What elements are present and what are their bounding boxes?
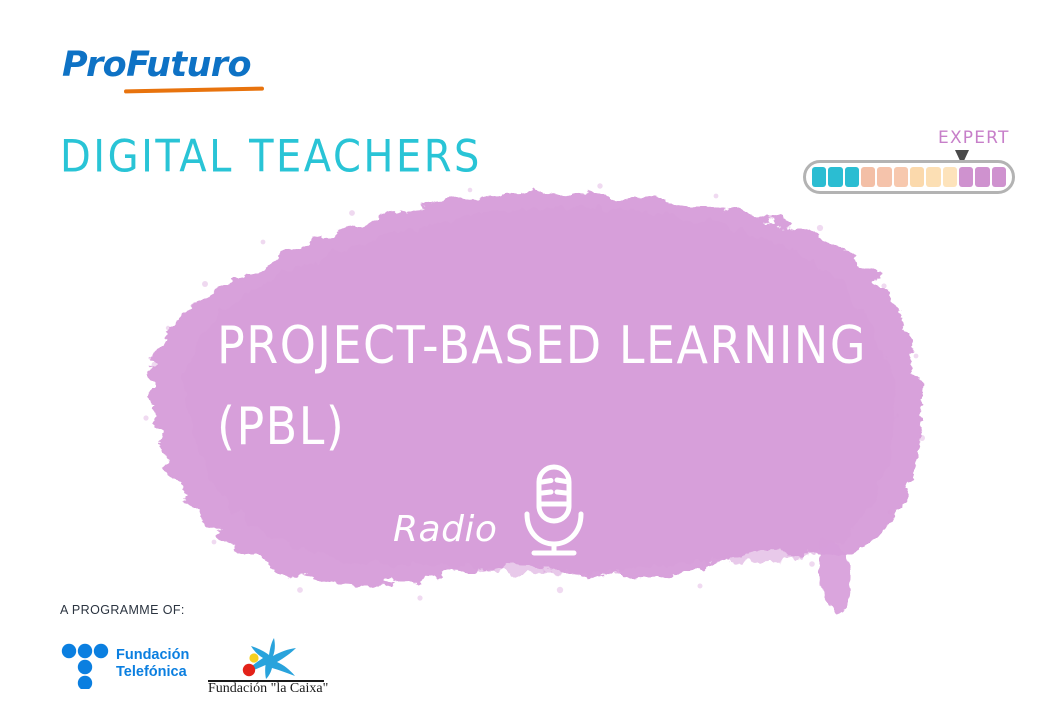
page-title-line-1: PROJECT-BASED LEARNING [217, 305, 917, 386]
brush-drip [820, 540, 851, 614]
lacaixa-yellow-dot [249, 653, 258, 662]
level-meter-segment-12 [992, 167, 1006, 187]
telefonica-dots-icon [60, 643, 110, 689]
lacaixa-star-icon [230, 637, 300, 679]
level-meter[interactable] [803, 160, 1015, 194]
level-meter-segment-6 [894, 167, 908, 187]
slide-canvas: ProFuturo DIGITAL TEACHERS EXPERT PROJEC… [0, 0, 1040, 720]
level-meter-segment-11 [975, 167, 989, 187]
level-meter-segment-3 [845, 167, 859, 187]
programme-credit-label: A PROGRAMME OF: [60, 603, 185, 617]
level-meter-segment-2 [828, 167, 842, 187]
lacaixa-red-dot [243, 664, 255, 676]
level-meter-segment-8 [926, 167, 940, 187]
sponsor-name-telefonica-line-1: Fundación [116, 647, 189, 664]
level-meter-segment-9 [943, 167, 957, 187]
programme-name: DIGITAL TEACHERS [60, 130, 482, 184]
level-meter-segment-10 [959, 167, 973, 187]
sponsor-name-telefonica: Fundación Telefónica [116, 647, 189, 681]
page-title-line-2: (PBL) [217, 386, 917, 467]
format-badge: Radio [393, 462, 589, 558]
microphone-icon [519, 462, 589, 558]
level-meter-track [803, 160, 1015, 194]
profuturo-logo: ProFuturo [62, 44, 292, 102]
profuturo-logo-underline [124, 87, 264, 94]
level-meter-segment-5 [877, 167, 891, 187]
profuturo-logo-text: ProFuturo [62, 44, 292, 86]
level-meter-segment-1 [812, 167, 826, 187]
level-label: EXPERT [938, 128, 1010, 148]
format-label: Radio [393, 502, 497, 558]
sponsor-name-telefonica-line-2: Telefónica [116, 664, 189, 681]
level-meter-segment-4 [861, 167, 875, 187]
sponsor-logo-fundacion-telefonica: Fundación Telefónica [60, 643, 192, 689]
level-meter-segment-7 [910, 167, 924, 187]
page-title: PROJECT-BASED LEARNING (PBL) [217, 305, 917, 466]
sponsor-logo-fundacion-la-caixa: Fundación "la Caixa" [208, 637, 328, 695]
sponsor-name-la-caixa: Fundación "la Caixa" [208, 681, 324, 697]
